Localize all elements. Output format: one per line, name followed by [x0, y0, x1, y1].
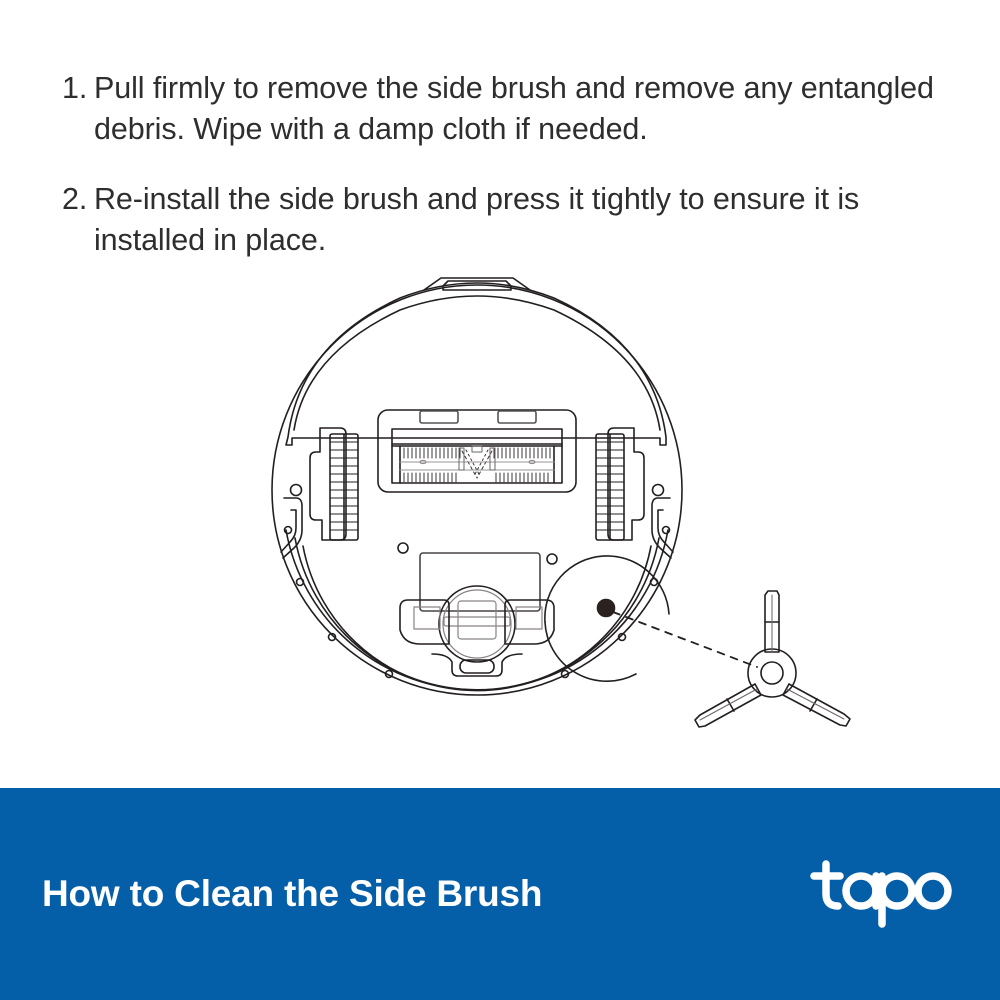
left-wheel-housing [310, 428, 346, 540]
caster-wheel-outer [439, 586, 515, 662]
step-text: Pull firmly to remove the side brush and… [94, 68, 942, 151]
caster-wheel-axle [444, 617, 510, 626]
brush-latch-right [498, 411, 536, 423]
page-title: How to Clean the Side Brush [42, 873, 542, 915]
screw-hole [547, 554, 557, 564]
brush-bristles-right-upper [494, 448, 550, 458]
left-sensor-trough-inner [281, 510, 296, 552]
footer-banner: How to Clean the Side Brush [0, 788, 1000, 1000]
chassis-rim-outer [275, 462, 679, 632]
screw-hole [398, 543, 408, 553]
logo-letter-a-bowl [846, 876, 876, 906]
logo-letter-o [918, 876, 948, 906]
page-root: 1. Pull firmly to remove the side brush … [0, 0, 1000, 1000]
side-brush-arm-dr-center [787, 689, 844, 719]
instruction-step: 1. Pull firmly to remove the side brush … [62, 68, 942, 151]
side-brush-mount-dot [598, 600, 615, 617]
logo-letter-p-bowl [882, 876, 912, 906]
caster-wheel-bracket [458, 601, 496, 639]
side-brush-arm-dr-joint [810, 699, 817, 711]
rim-screw-hole [291, 485, 302, 496]
chassis-rim-line-3 [303, 546, 651, 691]
side-brush-arm-dl-center [700, 689, 757, 720]
brush-bristles-right-lower [496, 473, 548, 483]
bumper-plate [286, 283, 666, 445]
brush-tab-center [472, 446, 482, 452]
instructions-list: 1. Pull firmly to remove the side brush … [62, 68, 942, 290]
brush-bristles-left-lower [404, 473, 456, 483]
step-text: Re-install the side brush and press it t… [94, 179, 942, 262]
brush-bristles-left-upper [404, 448, 460, 458]
caster-wheel-inner [443, 590, 511, 658]
step-number: 2. [62, 179, 94, 220]
side-brush-hub-inner [761, 662, 783, 684]
brush-latch-left [420, 411, 458, 423]
step-number: 1. [62, 68, 94, 109]
right-sensor-trough-inner [658, 510, 673, 552]
battery-cover [420, 553, 540, 611]
tapo-logo [806, 854, 956, 934]
side-brush-detached [695, 591, 850, 727]
side-brush-arm-down-left [695, 684, 761, 727]
right-wheel-housing [608, 428, 644, 540]
logo-letter-t [826, 864, 838, 906]
rim-screw-hole [653, 485, 664, 496]
instruction-step: 2. Re-install the side brush and press i… [62, 179, 942, 262]
robot-vacuum-illustration [0, 262, 1000, 762]
